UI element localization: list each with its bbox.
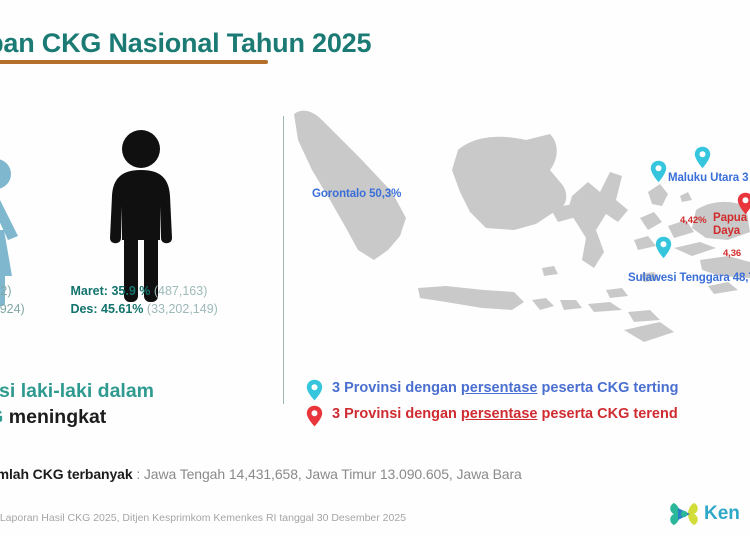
map-landmass	[294, 111, 750, 342]
indonesia-map	[288, 100, 750, 362]
stat-line-female-2: 39,589,924)	[0, 300, 66, 318]
legend-low-underlined: persentase	[461, 406, 538, 422]
highlight-statement: sipasi laki-laki dalam CKG meningkat	[0, 378, 290, 430]
stat-line-maret: Maret: 35.9 % (487,163)	[70, 282, 270, 300]
stat-label-des: Des:	[70, 302, 97, 316]
map-pin-sulawesi-tenggara-icon[interactable]	[655, 236, 672, 259]
map-pin-gorontalo-icon[interactable]	[650, 160, 667, 183]
indonesia-map-svg	[288, 100, 750, 362]
title-underline	[0, 60, 268, 64]
slide-canvas: kupan CKG Nasional Tahun 2025	[0, 0, 750, 536]
stat-line-female-1: (871,252)	[0, 282, 66, 300]
bottom-note: gan jumlah CKG terbanyak : Jawa Tengah 1…	[0, 466, 750, 482]
legend-high-post: peserta CKG terting	[538, 380, 679, 396]
highlight-line-1: sipasi laki-laki dalam	[0, 378, 290, 404]
map-label-low-third-percent: 4,36	[723, 248, 741, 259]
male-figure-icon	[105, 128, 177, 306]
map-label-gorontalo: Gorontalo 50,3%	[312, 188, 401, 200]
map-label-sulawesi-tenggara: Sulawesi Tenggara 48,72	[628, 272, 750, 284]
legend-row-lowest: 3 Provinsi dengan persentase peserta CKG…	[306, 404, 750, 430]
legend-label-highest: 3 Provinsi dengan persentase peserta CKG…	[332, 380, 679, 396]
kemenkes-logo-mark-icon	[668, 498, 700, 530]
legend-pin-low-icon	[306, 405, 323, 427]
map-legend: 3 Provinsi dengan persentase peserta CKG…	[306, 378, 750, 430]
legend-high-underlined: persentase	[461, 380, 538, 396]
map-label-papua-barat-daya: Papua Ba Daya	[713, 212, 750, 238]
kemenkes-logo-text: Ken	[704, 503, 740, 525]
stats-row: (871,252) 39,589,924) Maret: 35.9 % (487…	[0, 282, 288, 318]
stats-column-left: (871,252) 39,589,924)	[0, 282, 66, 318]
stat-value-des: 45.61%	[101, 302, 143, 316]
highlight-line-2: CKG meningkat	[0, 404, 290, 430]
map-label-papua-line1: Papua Ba	[713, 212, 750, 225]
left-stats-panel: (871,252) 39,589,924) Maret: 35.9 % (487…	[0, 100, 284, 450]
source-note: : Laporan Hasil CKG 2025, Ditjen Kesprim…	[0, 512, 634, 524]
stat-paren-des: (33,202,149)	[147, 302, 218, 316]
legend-low-pre: 3 Provinsi dengan	[332, 406, 461, 422]
bottom-note-rest: : Jawa Tengah 14,431,658, Jawa Timur 13.…	[133, 466, 522, 482]
map-label-papua-line2: Daya	[713, 225, 750, 238]
stat-label-maret: Maret:	[70, 284, 108, 298]
map-label-papua-percent: 4,42%	[680, 215, 706, 226]
stats-column-right: Maret: 35.9 % (487,163) Des: 45.61% (33,…	[70, 282, 270, 318]
kemenkes-logo: Ken	[668, 498, 750, 532]
legend-low-post: peserta CKG terend	[538, 406, 678, 422]
title-block: kupan CKG Nasional Tahun 2025	[0, 28, 516, 59]
stat-paren-maret: (487,163)	[154, 284, 208, 298]
stat-value-maret: 35.9 %	[111, 284, 150, 298]
legend-row-highest: 3 Provinsi dengan persentase peserta CKG…	[306, 378, 750, 404]
map-label-maluku-utara: Maluku Utara 3	[668, 172, 748, 184]
page-title: kupan CKG Nasional Tahun 2025	[0, 28, 516, 59]
legend-high-pre: 3 Provinsi dengan	[332, 380, 461, 396]
map-pin-maluku-utara-icon[interactable]	[694, 146, 711, 169]
highlight-accent: CKG	[0, 406, 3, 428]
legend-label-lowest: 3 Provinsi dengan persentase peserta CKG…	[332, 406, 678, 422]
highlight-dark: meningkat	[9, 406, 107, 428]
vertical-divider	[283, 116, 284, 404]
bottom-note-bold: gan jumlah CKG terbanyak	[0, 466, 133, 482]
legend-pin-high-icon	[306, 379, 323, 401]
stat-line-des: Des: 45.61% (33,202,149)	[70, 300, 270, 318]
